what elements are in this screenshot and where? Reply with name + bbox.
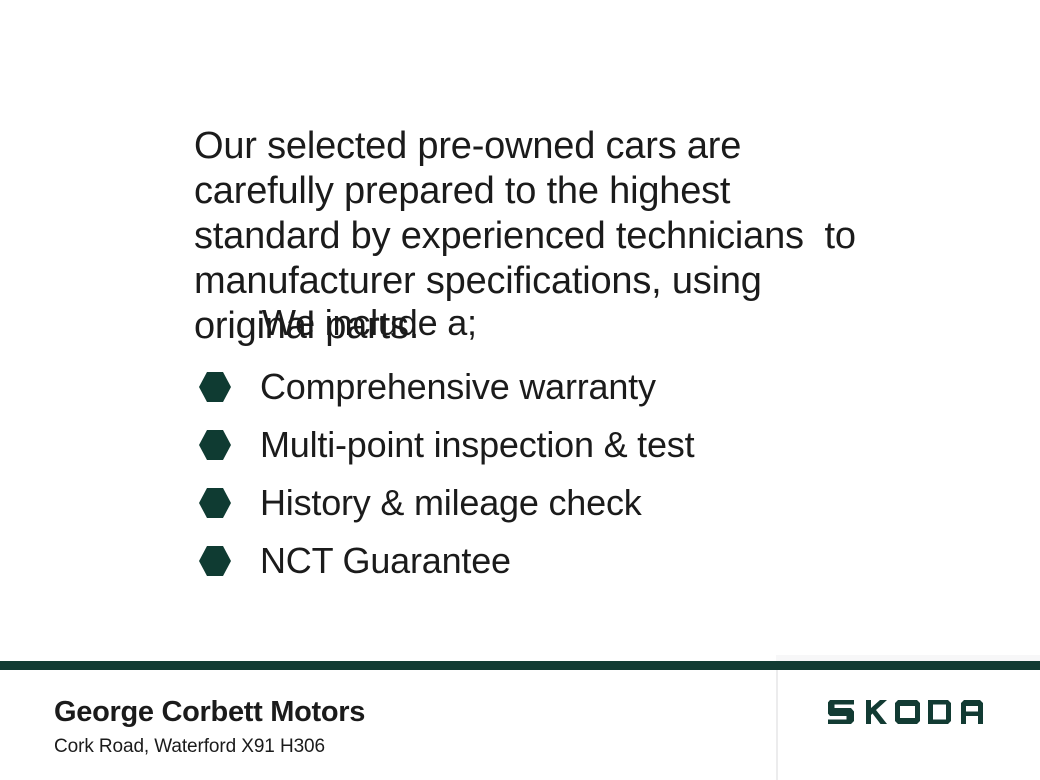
footer-divider-bar <box>0 661 1040 670</box>
footer-vertical-divider <box>776 670 778 780</box>
list-item-label: History & mileage check <box>260 482 642 524</box>
dealer-name: George Corbett Motors <box>54 694 365 730</box>
list-item: Multi-point inspection & test <box>198 416 898 474</box>
slide-canvas: Our selected pre-owned cars are carefull… <box>0 0 1040 780</box>
list-item-label: Comprehensive warranty <box>260 366 656 408</box>
hexagon-bullet-icon <box>198 487 232 519</box>
hexagon-bullet-icon <box>198 429 232 461</box>
dealer-info: George Corbett Motors Cork Road, Waterfo… <box>54 694 365 759</box>
list-item-label: NCT Guarantee <box>260 540 511 582</box>
include-lead-text: We include a; <box>262 301 477 345</box>
list-item-label: Multi-point inspection & test <box>260 424 694 466</box>
hexagon-bullet-icon <box>198 545 232 577</box>
hexagon-bullet-icon <box>198 371 232 403</box>
list-item: History & mileage check <box>198 474 898 532</box>
skoda-wordmark-icon <box>828 697 986 727</box>
benefits-list: Comprehensive warranty Multi-point inspe… <box>198 358 898 590</box>
list-item: Comprehensive warranty <box>198 358 898 416</box>
list-item: NCT Guarantee <box>198 532 898 590</box>
dealer-address: Cork Road, Waterford X91 H306 <box>54 734 365 759</box>
